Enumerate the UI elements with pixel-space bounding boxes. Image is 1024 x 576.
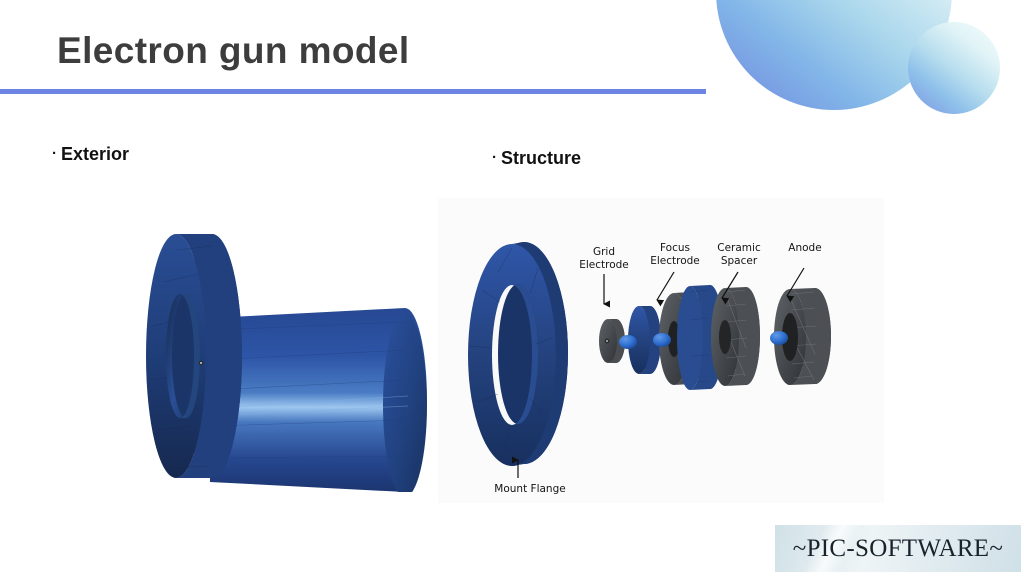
part-ceramic-spacer	[711, 287, 760, 386]
structure-diagram-panel: Grid Electrode Focus Electrode Ceramic S…	[438, 198, 884, 503]
section-heading-structure-label: Structure	[501, 148, 581, 168]
callout-label-anode: Anode	[778, 242, 832, 255]
section-heading-exterior: ·Exterior	[52, 144, 129, 165]
part-connector-pin	[619, 335, 637, 349]
callout-label-mount-flange: Mount Flange	[480, 483, 580, 496]
callout-label-grid-electrode: Grid Electrode	[573, 246, 635, 271]
exterior-model-image	[120, 230, 460, 492]
section-heading-structure: ·Structure	[492, 148, 581, 169]
part-connector-pin	[653, 333, 671, 347]
footer-logo: ~PIC-SOFTWARE~	[775, 525, 1021, 572]
callout-label-focus-electrode: Focus Electrode	[643, 242, 707, 267]
slide-canvas: Electron gun model ·Exterior ·Structure	[0, 0, 1024, 576]
title-underline	[0, 89, 706, 94]
bullet-icon: ·	[52, 145, 57, 162]
decorative-circles	[694, 0, 1024, 150]
section-heading-exterior-label: Exterior	[61, 144, 129, 164]
part-connector-pin	[770, 331, 788, 345]
page-title: Electron gun model	[57, 30, 410, 72]
decorative-circle-large	[716, 0, 952, 110]
callout-label-ceramic-spacer: Ceramic Spacer	[708, 242, 770, 267]
part-mount-flange	[468, 242, 568, 466]
decorative-circle-small	[908, 22, 1000, 114]
footer-logo-text: ~PIC-SOFTWARE~	[793, 535, 1003, 563]
bullet-icon: ·	[492, 149, 497, 166]
